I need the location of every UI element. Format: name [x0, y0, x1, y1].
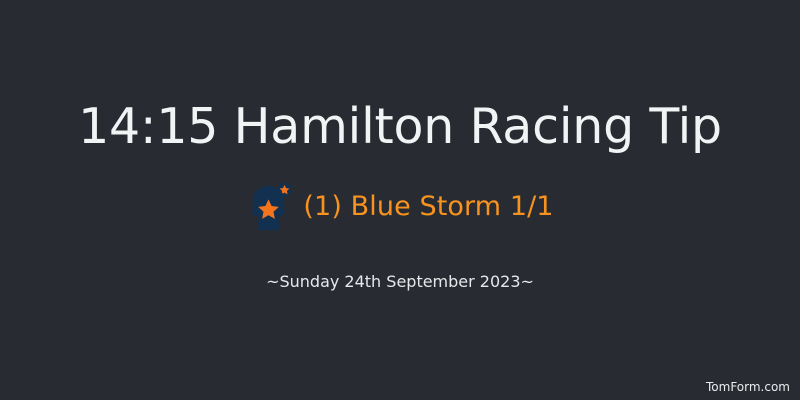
tip-selection-text: (1) Blue Storm 1/1	[303, 190, 553, 224]
jockey-silk-icon	[246, 182, 292, 232]
site-watermark: TomForm.com	[706, 379, 790, 395]
page-title: 14:15 Hamilton Racing Tip	[0, 98, 800, 156]
selection-row: (1) Blue Storm 1/1	[0, 182, 800, 232]
racing-tip-card: 14:15 Hamilton Racing Tip (1) Blue Storm…	[0, 0, 800, 400]
race-date: ~Sunday 24th September 2023~	[0, 271, 800, 293]
